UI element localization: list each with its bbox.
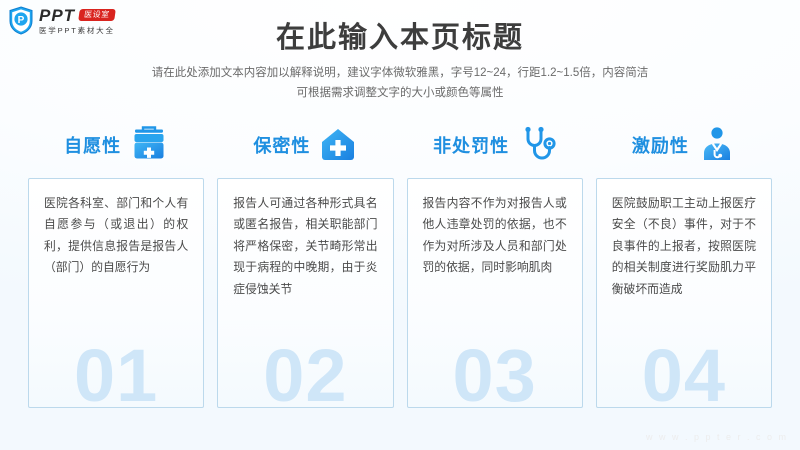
subtitle-line-1: 请在此处添加文本内容加以解释说明，建议字体微软雅黑，字号12~24，行距1.2~… (0, 63, 800, 83)
column-title-2: 保密性 (253, 132, 310, 158)
site-watermark: w w w . p p t e r . c o m (646, 432, 788, 442)
feature-number-2: 02 (218, 339, 392, 408)
feature-body-4: 医院鼓励职工主动上报医疗安全（不良）事件，对于不良事件的上报者，按照医院的相关制… (597, 179, 771, 300)
subtitle-line-2: 可根据需求调整文字的大小或颜色等属性 (0, 83, 800, 103)
feature-column-3[interactable]: 非处罚性 报告内容不作为对报告人或他人违章处罚的依据，也不作 (407, 122, 583, 408)
feature-number-4: 04 (597, 339, 771, 408)
feature-body-2: 报告人可通过各种形式具名或匿名报告，相关职能部门将严格保密，关节畸形常出现于病程… (218, 179, 392, 300)
column-header-4: 激励性 (596, 122, 772, 168)
feature-card-1: 医院各科室、部门和个人有自愿参与（或退出）的权利，提供信息报告是报告人（部门）的… (28, 178, 204, 408)
column-title-1: 自愿性 (64, 132, 121, 158)
page-subtitle: 请在此处添加文本内容加以解释说明，建议字体微软雅黑，字号12~24，行距1.2~… (0, 63, 800, 103)
hospital-plus-icon (319, 126, 357, 164)
column-header-1: 自愿性 (28, 122, 204, 168)
slide-canvas: P PPT 医设室 医学PPT素材大全 在此输入本页标题 请在此处添加文本内容加… (0, 0, 800, 450)
feature-body-3: 报告内容不作为对报告人或他人违章处罚的依据，也不作为对所涉及人员和部门处罚的依据… (408, 179, 582, 279)
column-title-3: 非处罚性 (433, 132, 509, 158)
column-title-4: 激励性 (632, 132, 689, 158)
feature-column-2[interactable]: 保密性 报告人可通过各种形式具名或匿名报告，相关职能部门将严格保密，关节畸形常出… (217, 122, 393, 408)
feature-column-4[interactable]: 激励性 医院鼓励职工主动上报医疗安全（不良）事件，对于不良事件的 (596, 122, 772, 408)
column-header-3: 非处罚性 (407, 122, 583, 168)
column-header-2: 保密性 (217, 122, 393, 168)
doctor-icon (698, 126, 736, 164)
feature-number-3: 03 (408, 339, 582, 408)
feature-card-4: 医院鼓励职工主动上报医疗安全（不良）事件，对于不良事件的上报者，按照医院的相关制… (596, 178, 772, 408)
feature-card-2: 报告人可通过各种形式具名或匿名报告，相关职能部门将严格保密，关节畸形常出现于病程… (217, 178, 393, 408)
feature-column-1[interactable]: 自愿性 医院各科室、部门和个人有自愿参与（或退出）的权利，提供信 (28, 122, 204, 408)
feature-body-1: 医院各科室、部门和个人有自愿参与（或退出）的权利，提供信息报告是报告人（部门）的… (29, 179, 203, 279)
feature-number-1: 01 (29, 339, 203, 408)
feature-columns: 自愿性 医院各科室、部门和个人有自愿参与（或退出）的权利，提供信 (28, 122, 772, 408)
stethoscope-icon (518, 126, 556, 164)
feature-card-3: 报告内容不作为对报告人或他人违章处罚的依据，也不作为对所涉及人员和部门处罚的依据… (407, 178, 583, 408)
page-title: 在此输入本页标题 (0, 14, 800, 56)
first-aid-kit-icon (130, 126, 168, 164)
